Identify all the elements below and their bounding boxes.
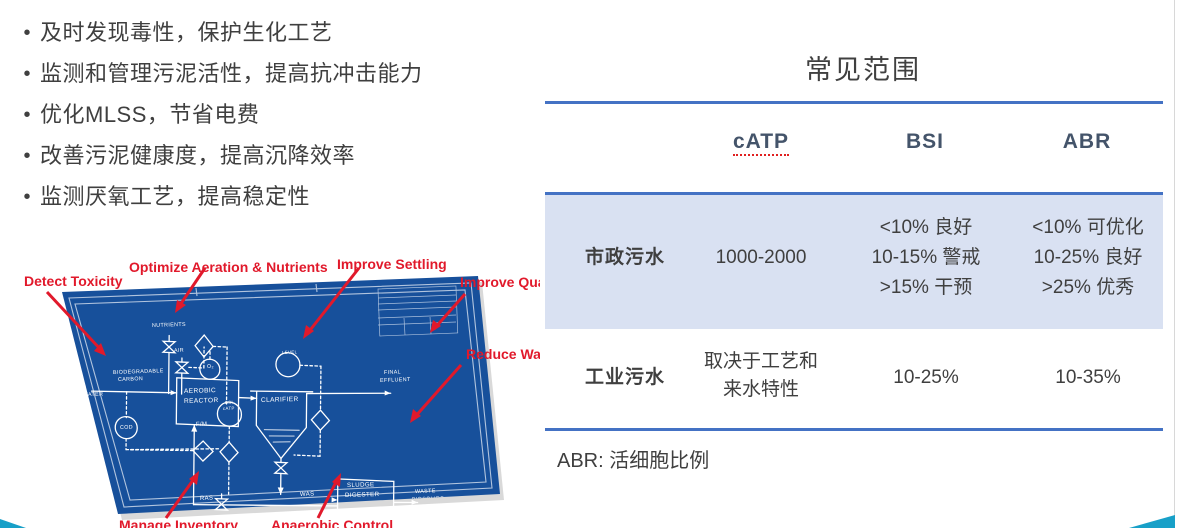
label-level: LEVEL	[282, 349, 298, 355]
bullet-marker-icon: •	[14, 141, 40, 171]
cell-municipal-abr-2: 10-25% 良好	[1025, 243, 1151, 273]
cell-municipal-bsi-2: 10-15% 警戒	[863, 243, 989, 273]
row-label-municipal: 市政污水	[555, 243, 695, 273]
column-header-bsi: BSI	[865, 130, 985, 154]
cell-municipal-bsi-1: <10% 良好	[863, 213, 989, 243]
corner-accent-bottom-left	[0, 519, 26, 528]
cell-industrial-abr: 10-35%	[1025, 363, 1151, 393]
label-cod: COD	[120, 425, 133, 431]
label-clarifier: CLARIFIER	[261, 396, 299, 404]
label-nutrients: NUTRIENTS	[152, 322, 186, 329]
callout-optimize-aeration: Optimize Aeration & Nutrients	[129, 259, 328, 275]
table-top-rule	[545, 101, 1163, 104]
callout-anaerobic-control: Anaerobic Control	[271, 517, 393, 528]
table-pane: 常见范围 cATP BSI ABR 市政污水 1000-2000 <10% 良好…	[541, 0, 1185, 528]
page-title: 常见范围	[541, 48, 1185, 87]
row-label-industrial: 工业污水	[555, 363, 695, 393]
cell-municipal-bsi-3: >15% 干预	[863, 273, 989, 303]
label-digester-2: DIGESTER	[345, 491, 380, 499]
list-item: • 优化MLSS，节省电费	[14, 100, 534, 130]
label-air: AIR	[174, 348, 184, 354]
label-raw-1: RAW	[73, 386, 87, 392]
callout-improve-quality-1: Improve Quality	[460, 274, 540, 290]
label-fm: F/M	[196, 422, 208, 428]
bullet-text: 监测厌氧工艺，提高稳定性	[40, 182, 310, 212]
cell-industrial-bsi: 10-25%	[863, 363, 989, 393]
callout-manage-inventory: Manage Inventory	[119, 517, 238, 528]
bullet-marker-icon: •	[14, 18, 40, 48]
label-digester-1: SLUDGE	[347, 481, 375, 489]
blueprint-diagram-image: RAW WASTEWATER BIODEGRADABLE CARBON COD …	[0, 246, 540, 528]
label-bsi-1: BSI	[225, 400, 233, 405]
callout-reduce-waste: Reduce Waste	[466, 346, 540, 362]
label-bsi-2: cATP	[223, 406, 235, 411]
corner-accent-bottom-right	[1129, 515, 1175, 528]
bullet-marker-icon: •	[14, 182, 40, 212]
table-bottom-rule	[545, 428, 1163, 431]
label-final-1: FINAL	[384, 369, 401, 376]
callout-improve-settling: Improve Settling	[337, 256, 447, 272]
label-reactor-1: AEROBIC	[184, 387, 216, 395]
cell-industrial-catp: 取决于工艺和来水特性	[701, 348, 821, 404]
slide-canvas: • 及时发现毒性，保护生化工艺 • 监测和管理污泥活性，提高抗冲击能力 • 优化…	[0, 0, 1185, 528]
table-footnote: ABR: 活细胞比例	[557, 444, 709, 473]
table-row: 市政污水 1000-2000 <10% 良好 10-15% 警戒 >15% 干预…	[545, 195, 1163, 329]
bullet-text: 改善污泥健康度，提高沉降效率	[40, 141, 355, 171]
table-row: 工业污水 取决于工艺和来水特性 10-25% 10-35%	[545, 331, 1163, 427]
label-was: WAS	[300, 491, 315, 498]
pane-divider	[1174, 0, 1175, 528]
label-reactor-2: REACTOR	[184, 397, 219, 405]
label-final-2: EFFLUENT	[380, 377, 411, 384]
bullet-text: 监测和管理污泥活性，提高抗冲击能力	[40, 59, 423, 89]
label-o2: O₂	[207, 364, 214, 370]
list-item: • 改善污泥健康度，提高沉降效率	[14, 141, 534, 171]
list-item: • 监测厌氧工艺，提高稳定性	[14, 182, 534, 212]
bullet-list: • 及时发现毒性，保护生化工艺 • 监测和管理污泥活性，提高抗冲击能力 • 优化…	[14, 18, 534, 223]
label-carbon-2: CARBON	[118, 376, 143, 383]
column-header-catp: cATP	[701, 130, 821, 154]
list-item: • 监测和管理污泥活性，提高抗冲击能力	[14, 59, 534, 89]
bullet-marker-icon: •	[14, 100, 40, 130]
label-ras: RAS	[200, 496, 214, 502]
cell-municipal-abr-1: <10% 可优化	[1025, 213, 1151, 243]
list-item: • 及时发现毒性，保护生化工艺	[14, 18, 534, 48]
cell-municipal-catp: 1000-2000	[701, 243, 821, 273]
bullet-text: 优化MLSS，节省电费	[40, 100, 259, 130]
column-header-abr: ABR	[1027, 130, 1147, 154]
cell-municipal-abr-3: >25% 优秀	[1025, 273, 1151, 303]
bullet-text: 及时发现毒性，保护生化工艺	[40, 18, 333, 48]
left-content-pane: • 及时发现毒性，保护生化工艺 • 监测和管理污泥活性，提高抗冲击能力 • 优化…	[0, 0, 540, 528]
callout-detect-toxicity: Detect Toxicity	[24, 273, 123, 289]
bullet-marker-icon: •	[14, 59, 40, 89]
table-header-row: cATP BSI ABR	[545, 130, 1163, 176]
label-waste-1: WASTE	[415, 488, 436, 495]
